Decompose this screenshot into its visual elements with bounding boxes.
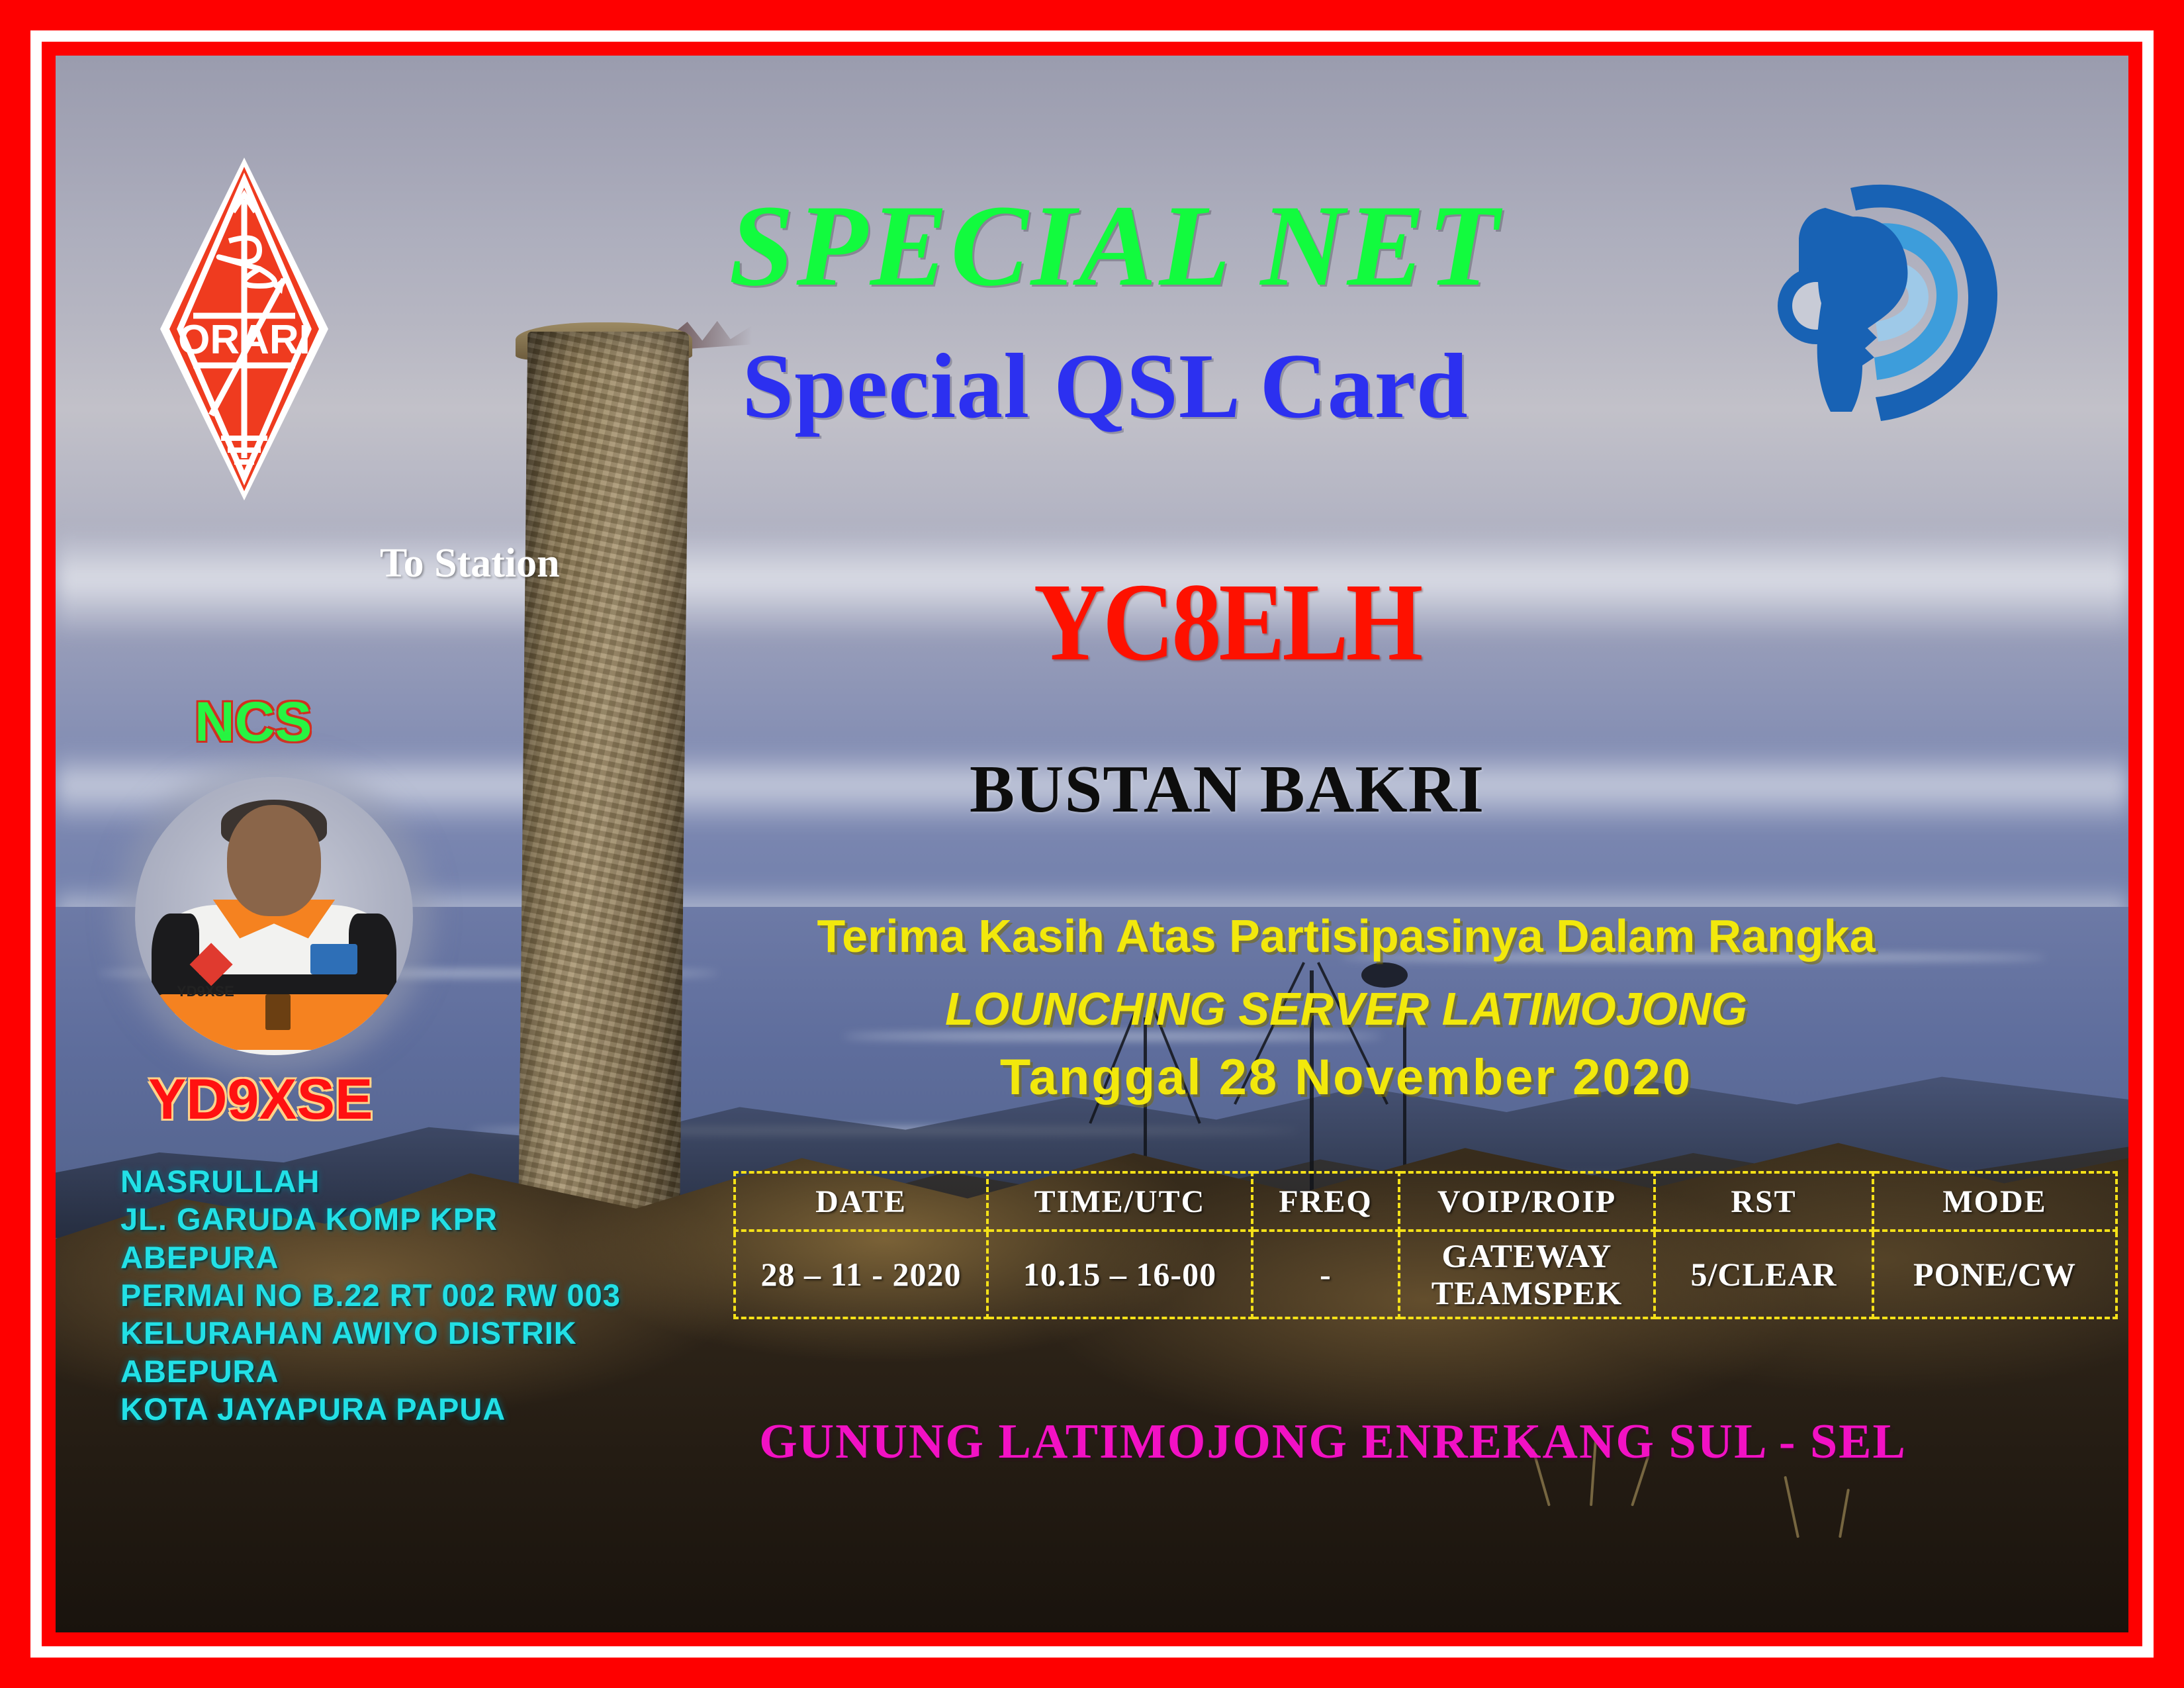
table-header-mode: MODE bbox=[1873, 1172, 2116, 1231]
to-station-label: To Station bbox=[380, 540, 560, 587]
ncs-callsign: YD9XSE bbox=[148, 1067, 373, 1133]
operator-avatar: YD9XSE bbox=[135, 777, 413, 1055]
table-cell-mode: PONE/CW bbox=[1873, 1231, 2116, 1318]
avatar-face bbox=[227, 805, 322, 916]
ncs-label: NCS bbox=[195, 690, 312, 754]
table-row: 28 – 11 - 2020 10.15 – 16-00 - GATEWAY T… bbox=[735, 1231, 2116, 1318]
station-callsign: YC8ELH bbox=[797, 559, 1657, 686]
avatar-patch-right bbox=[310, 944, 357, 974]
table-header-date: DATE bbox=[735, 1172, 987, 1231]
page-title: SPECIAL NET bbox=[56, 188, 2128, 305]
avatar-shirt-callsign: YD9XSE bbox=[177, 983, 234, 1000]
table-cell-voip: GATEWAY TEAMSPEK bbox=[1399, 1231, 1655, 1318]
table-header-rst: RST bbox=[1655, 1172, 1873, 1231]
card-photo-background: ORARI SPECIAL NET Special QSL Card To St… bbox=[56, 56, 2128, 1632]
table-cell-time: 10.15 – 16-00 bbox=[987, 1231, 1252, 1318]
table-header-voip: VOIP/ROIP bbox=[1399, 1172, 1655, 1231]
address-line: ABEPURA bbox=[120, 1352, 690, 1390]
qsl-card: ORARI SPECIAL NET Special QSL Card To St… bbox=[0, 0, 2184, 1688]
address-line: KELURAHAN AWIYO DISTRIK bbox=[120, 1314, 690, 1352]
slogan-text: "AMATIR RADIO ADALAH PROGRESIVE" bbox=[134, 1623, 1116, 1632]
location-line: GUNUNG LATIMOJONG ENREKANG SUL - SEL bbox=[704, 1414, 1962, 1470]
table-header-time: TIME/UTC bbox=[987, 1172, 1252, 1231]
address-line: KOTA JAYAPURA PAPUA bbox=[120, 1390, 690, 1428]
table-cell-freq: - bbox=[1252, 1231, 1399, 1318]
table-cell-date: 28 – 11 - 2020 bbox=[735, 1231, 987, 1318]
event-date-line: Tanggal 28 November 2020 bbox=[717, 1049, 1975, 1106]
table-header-row: DATE TIME/UTC FREQ VOIP/ROIP RST MODE bbox=[735, 1172, 2116, 1231]
thanks-line: Terima Kasih Atas Partisipasinya Dalam R… bbox=[717, 910, 1975, 962]
avatar-id-badge bbox=[265, 994, 291, 1031]
qso-table: DATE TIME/UTC FREQ VOIP/ROIP RST MODE 28… bbox=[733, 1171, 2118, 1319]
address-line: NASRULLAH bbox=[120, 1162, 690, 1200]
page-subtitle: Special QSL Card bbox=[56, 340, 2128, 433]
web-address-text: Address : amatir.latimojong.com bbox=[1306, 1623, 1994, 1632]
address-line: ABEPURA bbox=[120, 1239, 690, 1276]
table-header-freq: FREQ bbox=[1252, 1172, 1399, 1231]
address-line: PERMAI NO B.22 RT 002 RW 003 bbox=[120, 1276, 690, 1314]
station-operator-name: BUSTAN BAKRI bbox=[797, 751, 1657, 828]
table-cell-rst: 5/CLEAR bbox=[1655, 1231, 1873, 1318]
address-line: JL. GARUDA KOMP KPR bbox=[120, 1200, 690, 1238]
event-line: LOUNCHING SERVER LATIMOJONG bbox=[717, 982, 1975, 1035]
recipient-address-block: NASRULLAH JL. GARUDA KOMP KPR ABEPURA PE… bbox=[120, 1162, 690, 1428]
